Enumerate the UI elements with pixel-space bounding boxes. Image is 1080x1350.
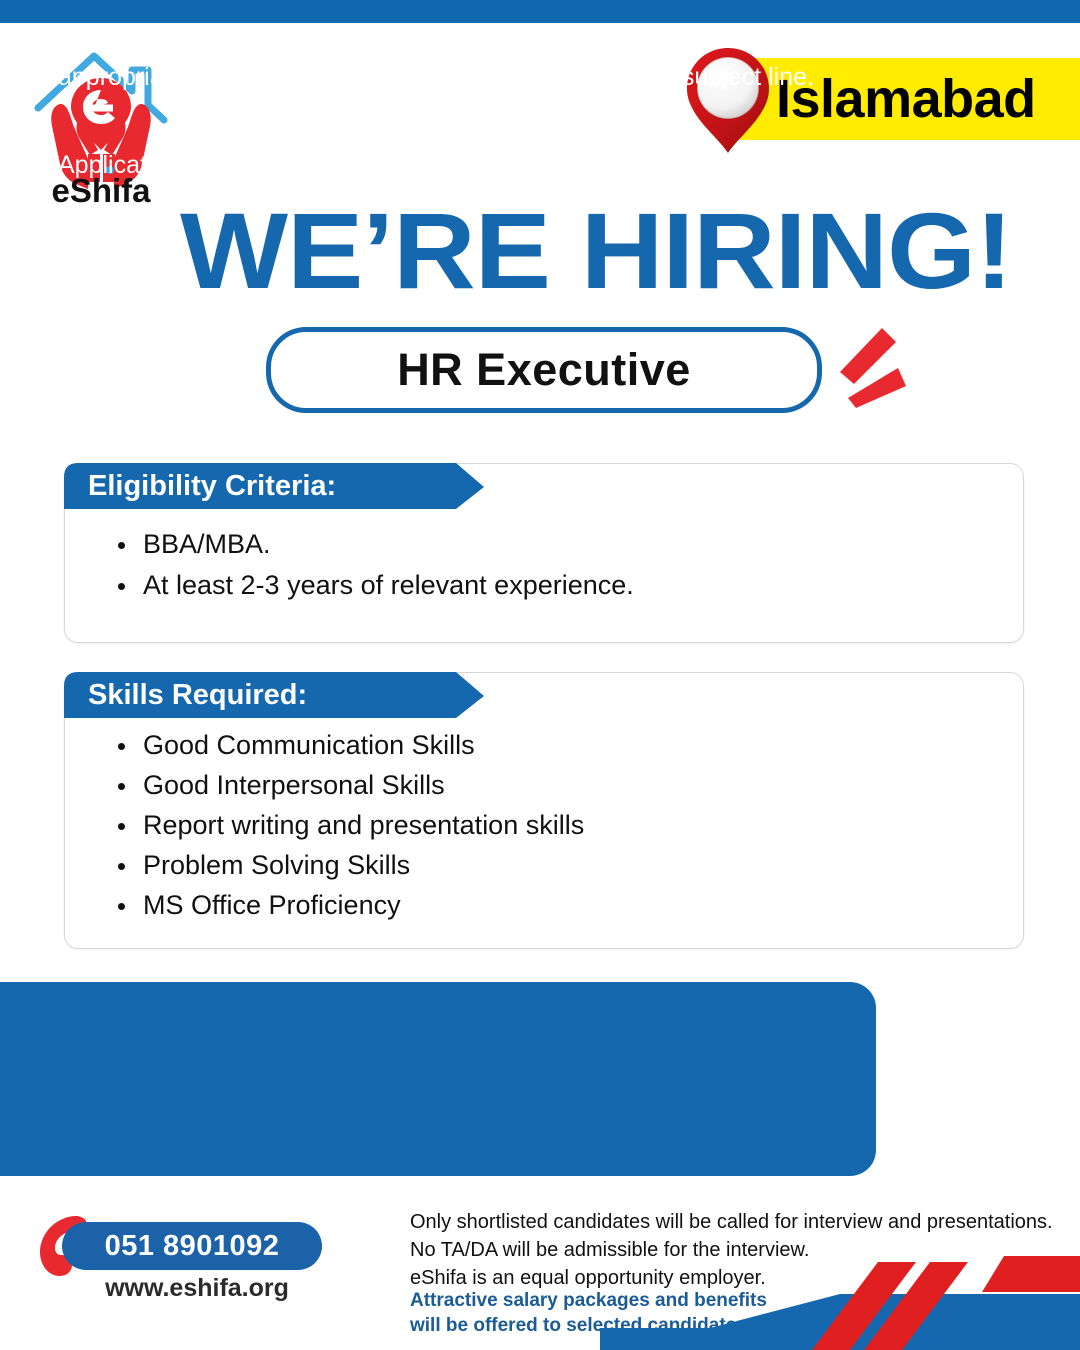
eligibility-card: Eligibility Criteria: BBA/MBA. At least … — [64, 463, 1024, 643]
footer-note-line: Only shortlisted candidates will be call… — [410, 1208, 1080, 1236]
apply-email: careers@eshifa.org — [579, 22, 812, 50]
application-deadline: Application Deadline: 09-10-2025. — [58, 150, 870, 180]
list-item: Report writing and presentation skills — [109, 805, 1003, 845]
deadline-label: Application Deadline: — [58, 151, 300, 179]
list-item: Problem Solving Skills — [109, 845, 1003, 885]
apply-line-suffix: in the subject line. — [607, 63, 814, 91]
phone-number[interactable]: 051 8901092 — [62, 1222, 322, 1270]
spark-burst-icon — [820, 312, 930, 412]
page-title: WE’RE HIRING! — [180, 196, 943, 306]
list-item: Good Interpersonal Skills — [109, 765, 1003, 805]
skills-card: Skills Required: Good Communication Skil… — [64, 672, 1024, 949]
application-info-block — [0, 982, 876, 1176]
apply-subject-title: “HR Executive- Islamabad” — [285, 63, 607, 91]
list-item: BBA/MBA. — [109, 524, 1003, 565]
list-item: MS Office Proficiency — [109, 885, 1003, 925]
skills-header-tab: Skills Required: — [64, 672, 484, 718]
apply-line-prefix: Applicants may send their updated resume… — [58, 22, 579, 50]
list-item: At least 2-3 years of relevant experienc… — [109, 565, 1003, 606]
list-item: Good Communication Skills — [109, 725, 1003, 765]
application-instructions: Applicants may send their updated resume… — [58, 16, 870, 98]
job-poster: eShifa Islamabad WE’RE H — [0, 0, 1080, 1350]
eligibility-header-label: Eligibility Criteria: — [88, 463, 336, 509]
deadline-value: 09-10-2025. — [300, 151, 435, 179]
job-role-label: HR Executive — [397, 344, 691, 396]
eligibility-list: BBA/MBA. At least 2-3 years of relevant … — [109, 524, 1003, 606]
job-role-pill: HR Executive — [266, 327, 822, 413]
skills-list: Good Communication Skills Good Interpers… — [109, 725, 1003, 925]
eligibility-header-tab: Eligibility Criteria: — [64, 463, 484, 509]
skills-header-label: Skills Required: — [88, 672, 307, 718]
website-url[interactable]: www.eshifa.org — [62, 1274, 332, 1303]
corner-swoosh-decoration — [600, 1250, 1080, 1350]
